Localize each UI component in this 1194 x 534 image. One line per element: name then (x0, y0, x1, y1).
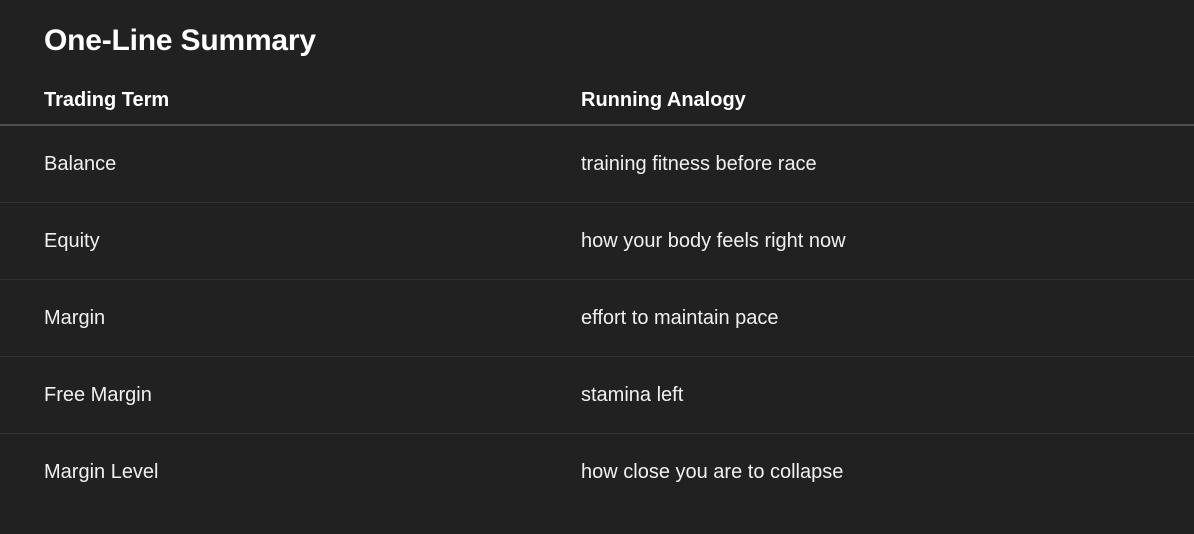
summary-page: One-Line Summary Trading Term Running An… (0, 0, 1194, 534)
column-header-trading-term: Trading Term (0, 76, 581, 125)
column-header-running-analogy: Running Analogy (581, 76, 1194, 125)
cell-running-analogy: stamina left (581, 357, 1194, 434)
table-header-row: Trading Term Running Analogy (0, 76, 1194, 125)
cell-trading-term: Balance (0, 125, 581, 203)
table-row: Equity how your body feels right now (0, 203, 1194, 280)
one-line-summary-table: Trading Term Running Analogy Balance tra… (0, 76, 1194, 510)
cell-running-analogy: how your body feels right now (581, 203, 1194, 280)
table-body: Balance training fitness before race Equ… (0, 125, 1194, 510)
page-title: One-Line Summary (44, 22, 316, 60)
cell-running-analogy: how close you are to collapse (581, 434, 1194, 511)
cell-running-analogy: effort to maintain pace (581, 280, 1194, 357)
table-row: Free Margin stamina left (0, 357, 1194, 434)
table-header: Trading Term Running Analogy (0, 76, 1194, 125)
table-row: Balance training fitness before race (0, 125, 1194, 203)
table-row: Margin Level how close you are to collap… (0, 434, 1194, 511)
cell-trading-term: Margin Level (0, 434, 581, 511)
cell-running-analogy: training fitness before race (581, 125, 1194, 203)
cell-trading-term: Equity (0, 203, 581, 280)
cell-trading-term: Margin (0, 280, 581, 357)
table-row: Margin effort to maintain pace (0, 280, 1194, 357)
cell-trading-term: Free Margin (0, 357, 581, 434)
